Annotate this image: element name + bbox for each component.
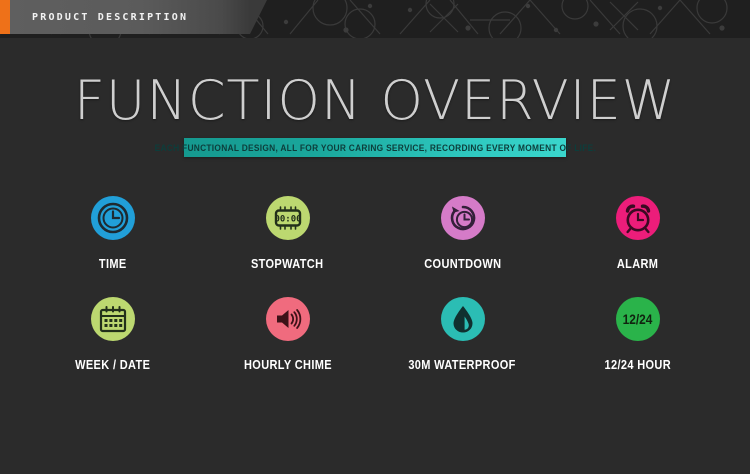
feature-item-time: TIME (25, 196, 200, 271)
twelve-twentyfour-text: 12/24 (623, 311, 653, 327)
section-label: PRODUCT DESCRIPTION (10, 12, 188, 23)
stopwatch-digital-icon: 00:00 (266, 196, 310, 240)
feature-item-countdown: COUNTDOWN (375, 196, 550, 271)
feature-label: HOURLY CHIME (244, 358, 332, 372)
water-drop-icon (441, 297, 485, 341)
countdown-glyph (446, 201, 480, 235)
calendar-icon (91, 297, 135, 341)
feature-item-week-date: WEEK / DATE (25, 297, 200, 372)
hero-block: FUNCTION OVERVIEW EACH FUNCTIONAL DESIGN… (0, 72, 750, 157)
feature-label: ALARM (617, 257, 658, 271)
feature-item-waterproof: 30M WATERPROOF (375, 297, 550, 372)
subtitle-bar: EACH FUNCTIONAL DESIGN, ALL FOR YOUR CAR… (184, 138, 566, 157)
stopwatch-display-value: 00:00 (274, 214, 301, 224)
feature-item-hourly-chime: HOURLY CHIME (200, 297, 375, 372)
feature-label: TIME (99, 257, 127, 271)
header-plate: PRODUCT DESCRIPTION (10, 0, 250, 34)
feature-label: 12/24 HOUR (604, 358, 670, 372)
header-accent-bar (0, 0, 10, 34)
feature-item-alarm: ALARM (550, 196, 725, 271)
countdown-clock-icon (441, 196, 485, 240)
feature-label: COUNTDOWN (424, 257, 501, 271)
stopwatch-glyph: 00:00 (272, 202, 304, 234)
subtitle-text: EACH FUNCTIONAL DESIGN, ALL FOR YOUR CAR… (154, 143, 596, 153)
header-banner: PRODUCT DESCRIPTION (0, 0, 250, 34)
alarm-clock-icon (616, 196, 660, 240)
alarm-glyph (621, 201, 655, 235)
feature-label: STOPWATCH (251, 257, 323, 271)
twelve-twentyfour-icon: 12/24 (616, 297, 660, 341)
calendar-glyph (97, 303, 129, 335)
feature-label: WEEK / DATE (75, 358, 150, 372)
feature-label: 30M WATERPROOF (409, 358, 516, 372)
page-title: FUNCTION OVERVIEW (0, 72, 750, 130)
clock-icon (91, 196, 135, 240)
speaker-glyph (272, 303, 304, 335)
speaker-sound-icon (266, 297, 310, 341)
feature-item-12-24-hour: 12/24 12/24 HOUR (550, 297, 725, 372)
water-drop-glyph (447, 303, 479, 335)
clock-glyph (96, 201, 130, 235)
feature-item-stopwatch: 00:00 STOPWATCH (200, 196, 375, 271)
feature-grid: TIME 00:00 STOPWATCH (25, 196, 725, 372)
